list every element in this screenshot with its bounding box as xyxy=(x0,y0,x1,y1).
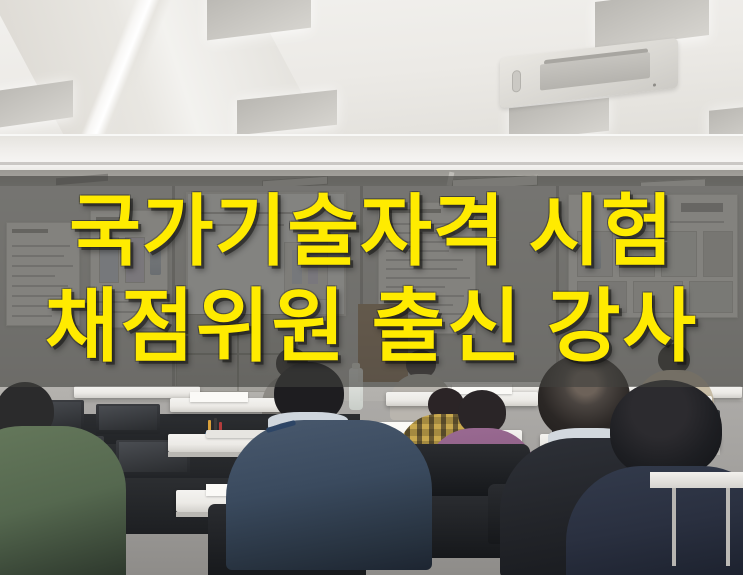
headline-block: 국가기술자격 시험 채점위원 출신 강사 xyxy=(0,183,743,375)
monitor-row3-b xyxy=(96,404,160,434)
led-panel-light-4 xyxy=(242,95,332,132)
desk-row4-left xyxy=(74,386,200,398)
desk-leg-frame-right xyxy=(672,486,676,566)
paper-sheet-row3 xyxy=(190,392,248,402)
banner-image: 국가기술자격 시험 채점위원 출신 강사 xyxy=(0,0,743,575)
desk-right-surface xyxy=(650,472,743,488)
led-panel-light-2 xyxy=(600,0,704,46)
headline-line-2: 채점위원 출신 강사 xyxy=(0,279,743,375)
ceiling-cassette-air-conditioner-icon xyxy=(500,38,678,108)
led-panel-light-1 xyxy=(212,0,306,38)
headline-line-1: 국가기술자격 시험 xyxy=(0,183,743,279)
ceiling xyxy=(0,0,743,196)
desk-leg-frame-right-2 xyxy=(726,482,730,566)
